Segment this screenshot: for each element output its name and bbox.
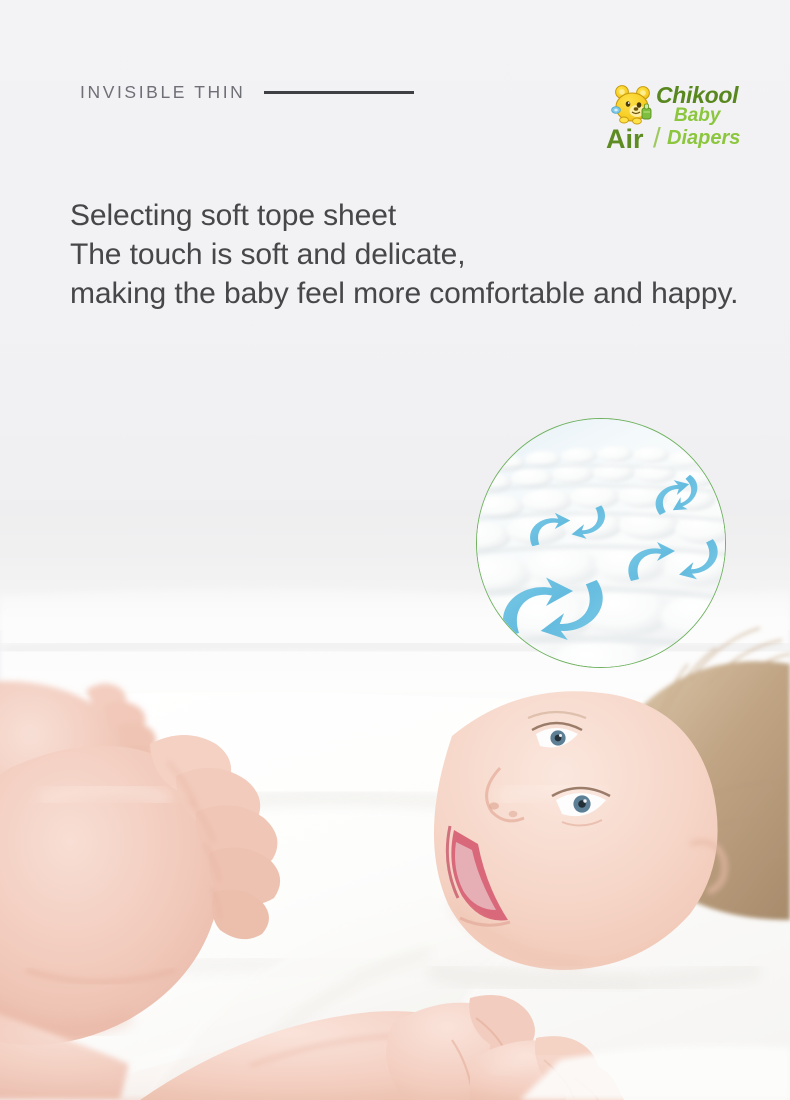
brand-logo[interactable]: Chikool Baby Air / Diapers [603, 78, 743, 160]
headline-block: Selecting soft tope sheet The touch is s… [70, 196, 730, 313]
logo-brand-text: Chikool [656, 84, 738, 107]
promo-page: INVISIBLE THIN [0, 0, 790, 1100]
topsheet-closeup-circle [476, 418, 726, 668]
headline-line-3: making the baby feel more comfortable an… [70, 274, 730, 313]
headline-line-1: Selecting soft tope sheet [70, 196, 730, 235]
eyebrow-label: INVISIBLE THIN [80, 82, 245, 103]
eyebrow: INVISIBLE THIN [80, 82, 414, 103]
logo-diapers-text: Diapers [667, 128, 740, 148]
logo-air-text: Air [606, 126, 644, 153]
bear-mascot-icon [609, 83, 657, 125]
headline-line-2: The touch is soft and delicate, [70, 235, 730, 274]
eyebrow-divider [264, 91, 414, 94]
logo-baby-text: Baby [674, 106, 720, 125]
logo-slash-separator: / [653, 124, 661, 152]
